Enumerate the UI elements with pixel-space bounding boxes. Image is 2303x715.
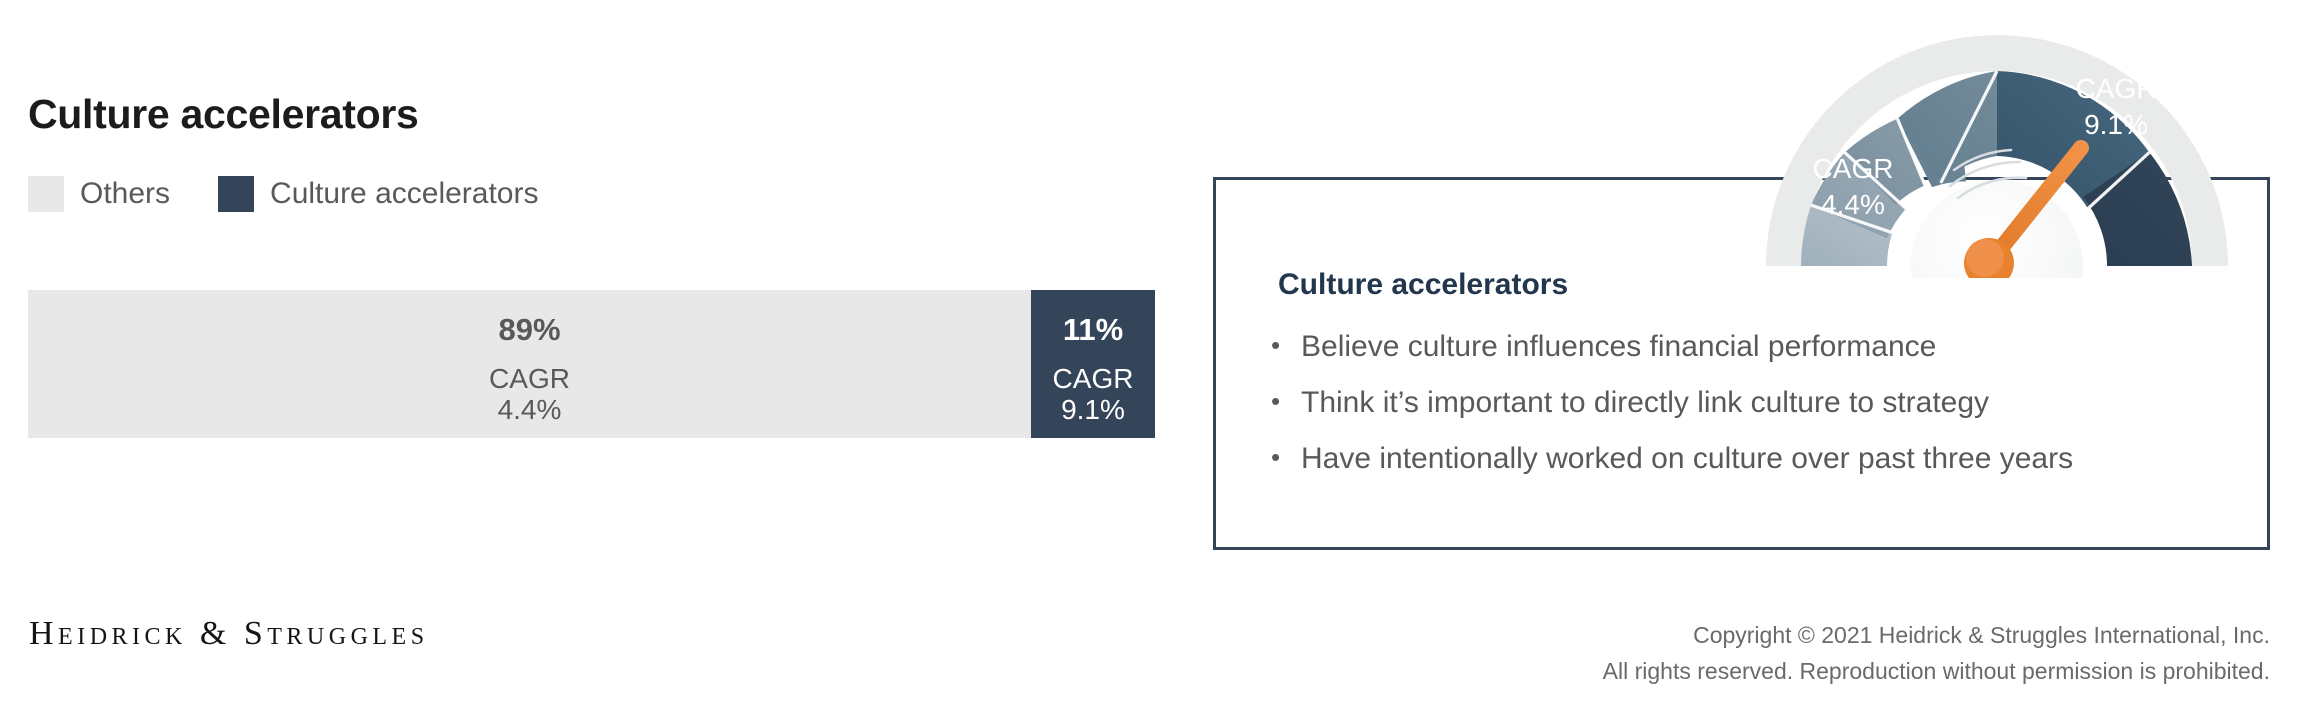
- chart-legend: Others Culture accelerators: [28, 176, 538, 212]
- gauge-left-value: 4.4%: [1821, 189, 1885, 220]
- list-item: • Think it’s important to directly link …: [1271, 388, 2073, 418]
- gauge-right-caption: CAGR: [2076, 73, 2157, 104]
- copyright-line-2: All rights reserved. Reproduction withou…: [1603, 654, 2270, 690]
- stacked-bar-chart: 89% CAGR4.4% 11% CAGR9.1%: [28, 290, 1155, 438]
- legend-label-culture-accelerators: Culture accelerators: [270, 179, 538, 209]
- gauge-chart: CAGR 4.4% CAGR 9.1%: [1758, 18, 2236, 278]
- list-item-text: Think it’s important to directly link cu…: [1301, 388, 1989, 418]
- bullet-icon: •: [1271, 332, 1301, 358]
- legend-swatch-culture-accelerators-icon: [218, 176, 254, 212]
- legend-swatch-others-icon: [28, 176, 64, 212]
- legend-label-others: Others: [80, 179, 170, 209]
- list-item-text: Have intentionally worked on culture ove…: [1301, 444, 2073, 474]
- gauge-left-caption: CAGR: [1813, 153, 1894, 184]
- bar-segment-culture-accelerators-cagr-value: 9.1%: [1061, 394, 1125, 425]
- bar-segment-others[interactable]: 89% CAGR4.4%: [28, 290, 1031, 438]
- bar-segment-culture-accelerators-cagr: CAGR9.1%: [1053, 363, 1134, 426]
- bar-segment-others-cagr: CAGR4.4%: [489, 363, 570, 426]
- bar-segment-culture-accelerators-percent: 11%: [1063, 314, 1123, 345]
- legend-item-culture-accelerators[interactable]: Culture accelerators: [218, 176, 538, 212]
- brand-logo: Heidrick & Struggles: [29, 617, 429, 651]
- bullet-icon: •: [1271, 388, 1301, 414]
- bar-segment-others-percent: 89%: [498, 314, 560, 345]
- page-title: Culture accelerators: [28, 94, 419, 135]
- bullet-icon: •: [1271, 444, 1301, 470]
- list-item: • Have intentionally worked on culture o…: [1271, 444, 2073, 474]
- bar-segment-culture-accelerators-cagr-caption: CAGR: [1053, 363, 1134, 394]
- list-item-text: Believe culture influences financial per…: [1301, 332, 1936, 362]
- copyright-notice: Copyright © 2021 Heidrick & Struggles In…: [1603, 618, 2270, 689]
- bar-segment-culture-accelerators[interactable]: 11% CAGR9.1%: [1031, 290, 1155, 438]
- legend-item-others[interactable]: Others: [28, 176, 170, 212]
- bar-segment-others-cagr-value: 4.4%: [498, 394, 562, 425]
- callout-bullet-list: • Believe culture influences financial p…: [1271, 332, 2073, 500]
- gauge-right-value: 9.1%: [2084, 109, 2148, 140]
- bar-segment-others-cagr-caption: CAGR: [489, 363, 570, 394]
- list-item: • Believe culture influences financial p…: [1271, 332, 2073, 362]
- copyright-line-1: Copyright © 2021 Heidrick & Struggles In…: [1603, 618, 2270, 654]
- callout-heading: Culture accelerators: [1278, 270, 1568, 300]
